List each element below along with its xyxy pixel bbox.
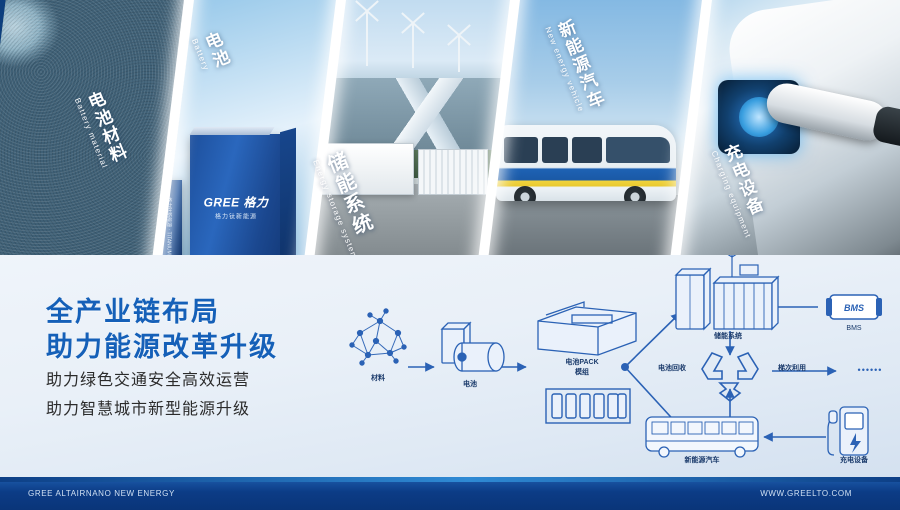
main-section: 全产业链布局 助力能源改革升级 助力绿色交通安全高效运营 助力智慧城市新型能源升… [0,255,900,477]
diagram-label-charging-equipment: 充电设备 [840,457,868,466]
diagram-label-pack-line1: 电池PACK [565,359,598,368]
diagram-label-bms: BMS [846,325,861,334]
diagram-label-pack-line2: 模组 [575,369,589,378]
gree-logo-brand: GREE 格力 [204,193,269,210]
bms-box-text: BMS [844,303,864,313]
diagram-label-new-energy-vehicle: 新能源汽车 [685,457,720,466]
diagram-more-dots: •••••• [858,365,883,376]
poster-root: 格力钛新能源 · TITANIUM GREE 格力 格力钛新能源 [0,0,900,510]
footer-bar: GREE ALTAIRNANO NEW ENERGY WWW.GREELTO.C… [0,477,900,510]
bus-outline-icon [646,417,758,457]
headline-line-2: 助力能源改革升级 [46,330,278,365]
bus-wheel [514,186,536,201]
battery-module-strip-icon [546,389,630,423]
diagram-label-battery: 电池 [463,381,477,390]
bus-window [572,137,602,163]
headline-line-1: 全产业链布局 [46,295,278,330]
diagram-label-energy-storage: 储能系统 [714,333,742,342]
gree-logo-subbrand: 格力钛新能源 [204,211,269,220]
subtitle-line-2: 助力智慧城市新型能源升级 [46,398,278,423]
bus-wheel [624,186,646,201]
electric-bus-image [496,125,676,201]
charging-pile-icon [828,407,868,455]
bus-windshield [606,137,670,163]
diagram-label-cascade-use: 梯次利用 [778,365,806,374]
subtitle-line-1: 助力绿色交通安全高效运营 [46,369,278,394]
hero-banner: 格力钛新能源 · TITANIUM GREE 格力 格力钛新能源 [0,0,900,255]
diagram-hub-node [621,363,629,371]
hero-panel-charging-equipment [675,0,900,255]
battery-pack-icon [538,302,636,355]
battery-cell-large: GREE 格力 格力钛新能源 [190,134,282,255]
footer-website[interactable]: WWW.GREELTO.COM [760,489,852,498]
battery-cells-icon [442,323,504,371]
energy-storage-icon [676,255,778,329]
bus-window [542,137,568,163]
wind-turbine-icon [366,12,368,66]
diagram-svg: BMS [340,255,900,477]
gree-logo: GREE 格力 格力钛新能源 [204,193,269,220]
value-chain-diagram: BMS [340,255,900,477]
footer-company-name: GREE ALTAIRNANO NEW ENERGY [28,489,175,498]
bus-window [504,137,538,163]
wind-turbine-icon [458,36,460,72]
headline-block: 全产业链布局 助力能源改革升级 助力绿色交通安全高效运营 助力智慧城市新型能源升… [46,295,278,423]
storage-container-unit [418,149,488,195]
material-molecule-icon [350,309,406,365]
diagram-label-material: 材料 [371,375,385,384]
diagram-label-battery-recycling: 电池回收 [658,365,686,374]
wind-turbine-icon [412,24,414,68]
